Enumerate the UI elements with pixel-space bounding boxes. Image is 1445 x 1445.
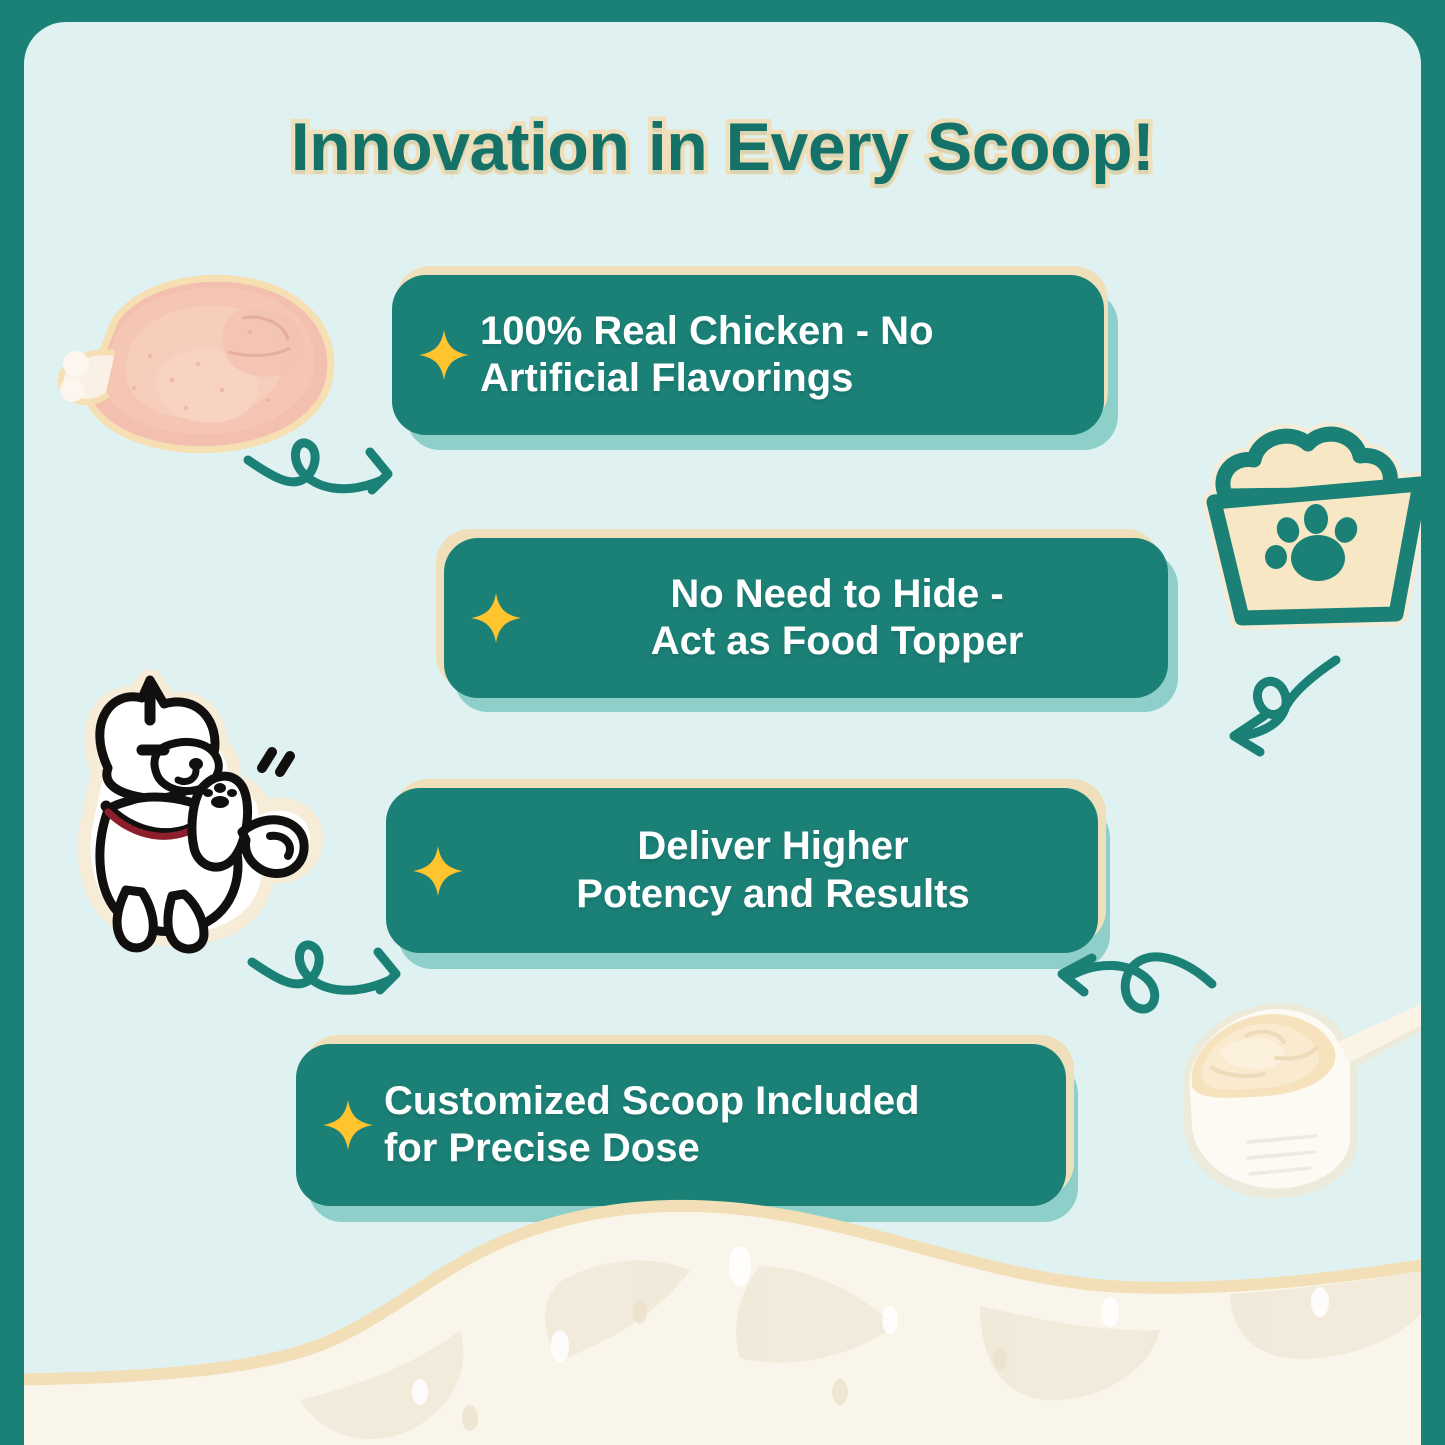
page-title: Innovation in Every Scoop! bbox=[291, 108, 1155, 186]
feature-banner-text-3: Deliver Higher Potency and Results bbox=[474, 823, 1072, 917]
feature-banner-text-2: No Need to Hide - Act as Food Topper bbox=[532, 571, 1142, 665]
sparkle-star-icon bbox=[412, 845, 464, 897]
feature-banner-food-topper[interactable]: No Need to Hide - Act as Food Topper bbox=[444, 538, 1168, 698]
curly-arrow-right-icon bbox=[232, 430, 432, 520]
dog-food-bowl-icon bbox=[1192, 418, 1421, 633]
curly-arrow-right-icon bbox=[236, 928, 440, 1024]
curly-arrow-left-icon bbox=[1172, 650, 1372, 762]
feature-banner-text-1: 100% Real Chicken - No Artificial Flavor… bbox=[480, 308, 1078, 402]
feature-banner-text-4: Customized Scoop Included for Precise Do… bbox=[384, 1078, 1040, 1172]
sparkle-star-icon bbox=[322, 1099, 374, 1151]
feature-banner-higher-potency[interactable]: Deliver Higher Potency and Results bbox=[386, 788, 1098, 953]
page-title-wrap: Innovation in Every Scoop! bbox=[24, 108, 1421, 186]
sparkle-star-icon bbox=[418, 329, 470, 381]
infographic-stage: Innovation in Every Scoop! bbox=[0, 0, 1445, 1445]
content-panel: Innovation in Every Scoop! bbox=[24, 22, 1421, 1445]
measuring-scoop-icon bbox=[1152, 980, 1421, 1230]
feature-banner-real-chicken[interactable]: 100% Real Chicken - No Artificial Flavor… bbox=[392, 275, 1104, 435]
sparkle-star-icon bbox=[470, 592, 522, 644]
